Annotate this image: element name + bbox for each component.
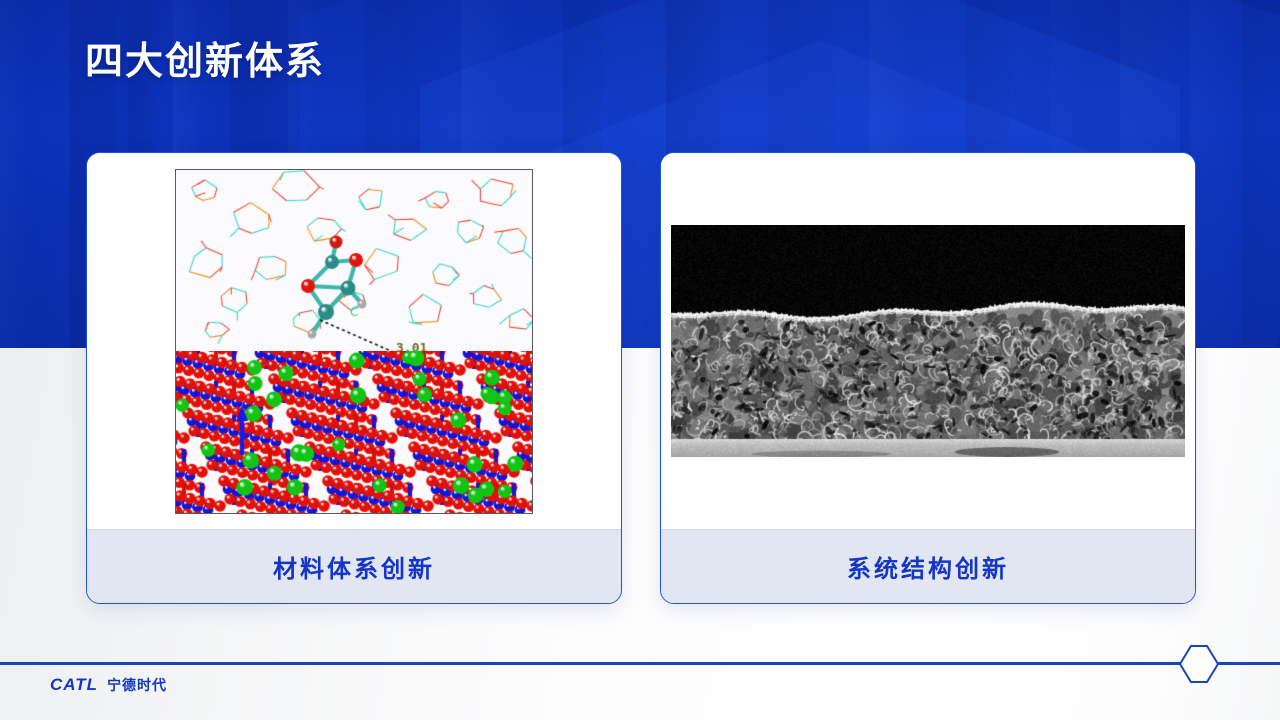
md-solvent-canvas bbox=[176, 170, 532, 355]
brand-logo-latin: CATL bbox=[50, 675, 98, 695]
md-lattice-region bbox=[176, 351, 532, 512]
molecular-dynamics-crystal-lattice-figure bbox=[175, 169, 533, 514]
card-system-structure-innovation[interactable]: 系统结构创新 bbox=[660, 152, 1196, 604]
card-2-caption: 系统结构创新 bbox=[661, 529, 1195, 603]
card-material-system-innovation[interactable]: 材料体系创新 bbox=[86, 152, 622, 604]
card-1-caption: 材料体系创新 bbox=[87, 529, 621, 603]
card-1-caption-text: 材料体系创新 bbox=[273, 549, 435, 584]
card-2-caption-text: 系统结构创新 bbox=[847, 549, 1009, 584]
brand-logo-chinese: 宁德时代 bbox=[107, 675, 167, 695]
card-1-media bbox=[87, 153, 621, 529]
footer-divider bbox=[0, 662, 1280, 665]
md-solvent-region bbox=[176, 170, 532, 355]
sem-canvas bbox=[671, 225, 1185, 457]
sem-cross-section-figure bbox=[671, 225, 1185, 457]
brand-logo: CATL 宁德时代 bbox=[50, 675, 167, 695]
card-2-media bbox=[661, 153, 1195, 529]
md-lattice-canvas bbox=[176, 351, 532, 512]
hexagon-icon bbox=[1178, 644, 1220, 684]
page-title: 四大创新体系 bbox=[85, 40, 325, 86]
slide-root: 四大创新体系 材料体系创新 系统结构创新 bbox=[0, 0, 1280, 720]
